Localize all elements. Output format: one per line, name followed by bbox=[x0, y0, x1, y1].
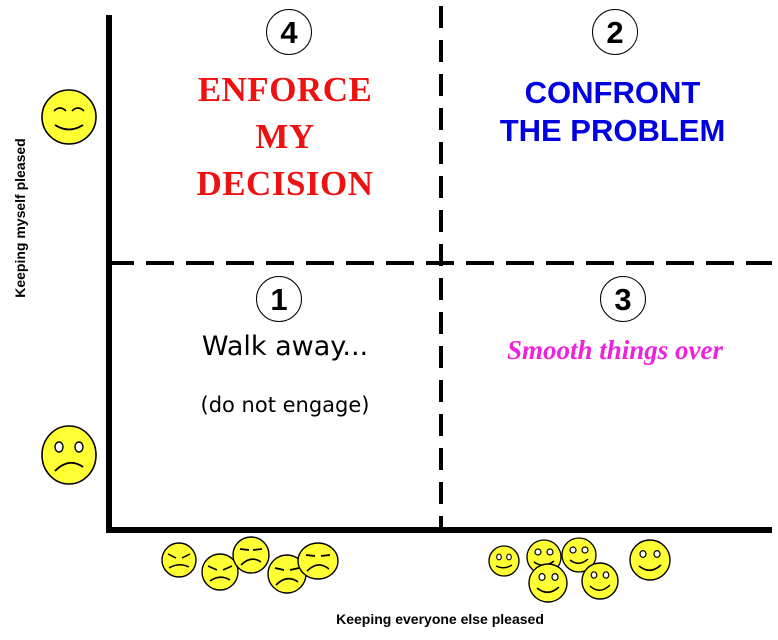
y-axis-line bbox=[106, 15, 112, 533]
happy-face-icon bbox=[487, 544, 521, 578]
angry-face-icon bbox=[160, 541, 198, 579]
conflict-matrix-diagram: 4 2 1 3 ENFORCE MY DECISION CONFRONT THE… bbox=[0, 0, 778, 640]
sad-face-icon bbox=[40, 424, 98, 486]
quadrant-badge-1: 1 bbox=[256, 276, 302, 322]
quadrant-badge-2: 2 bbox=[592, 9, 638, 55]
sad-face-icon bbox=[297, 541, 339, 581]
quadrant-badge-3: 3 bbox=[600, 276, 646, 322]
quadrant-label-smooth-things-over: Smooth things over bbox=[460, 335, 770, 366]
x-axis-label: Keeping everyone else pleased bbox=[180, 611, 700, 627]
quadrant-label-confront-the-problem: CONFRONT THE PROBLEM bbox=[450, 74, 775, 150]
y-axis-label: Keeping myself pleased bbox=[12, 128, 28, 308]
happy-face-icon bbox=[40, 88, 98, 146]
quadrant-sublabel-do-not-engage: (do not engage) bbox=[150, 393, 420, 417]
happy-face-icon bbox=[628, 538, 672, 582]
quadrant-label-walk-away: Walk away... bbox=[150, 331, 420, 362]
quadrant-badge-4: 4 bbox=[266, 9, 312, 55]
happy-face-icon bbox=[580, 561, 620, 601]
happy-face-icon bbox=[527, 562, 569, 604]
x-axis-line bbox=[106, 527, 772, 533]
sad-face-icon bbox=[231, 535, 271, 575]
quadrant-label-enforce-my-decision: ENFORCE MY DECISION bbox=[130, 66, 440, 207]
